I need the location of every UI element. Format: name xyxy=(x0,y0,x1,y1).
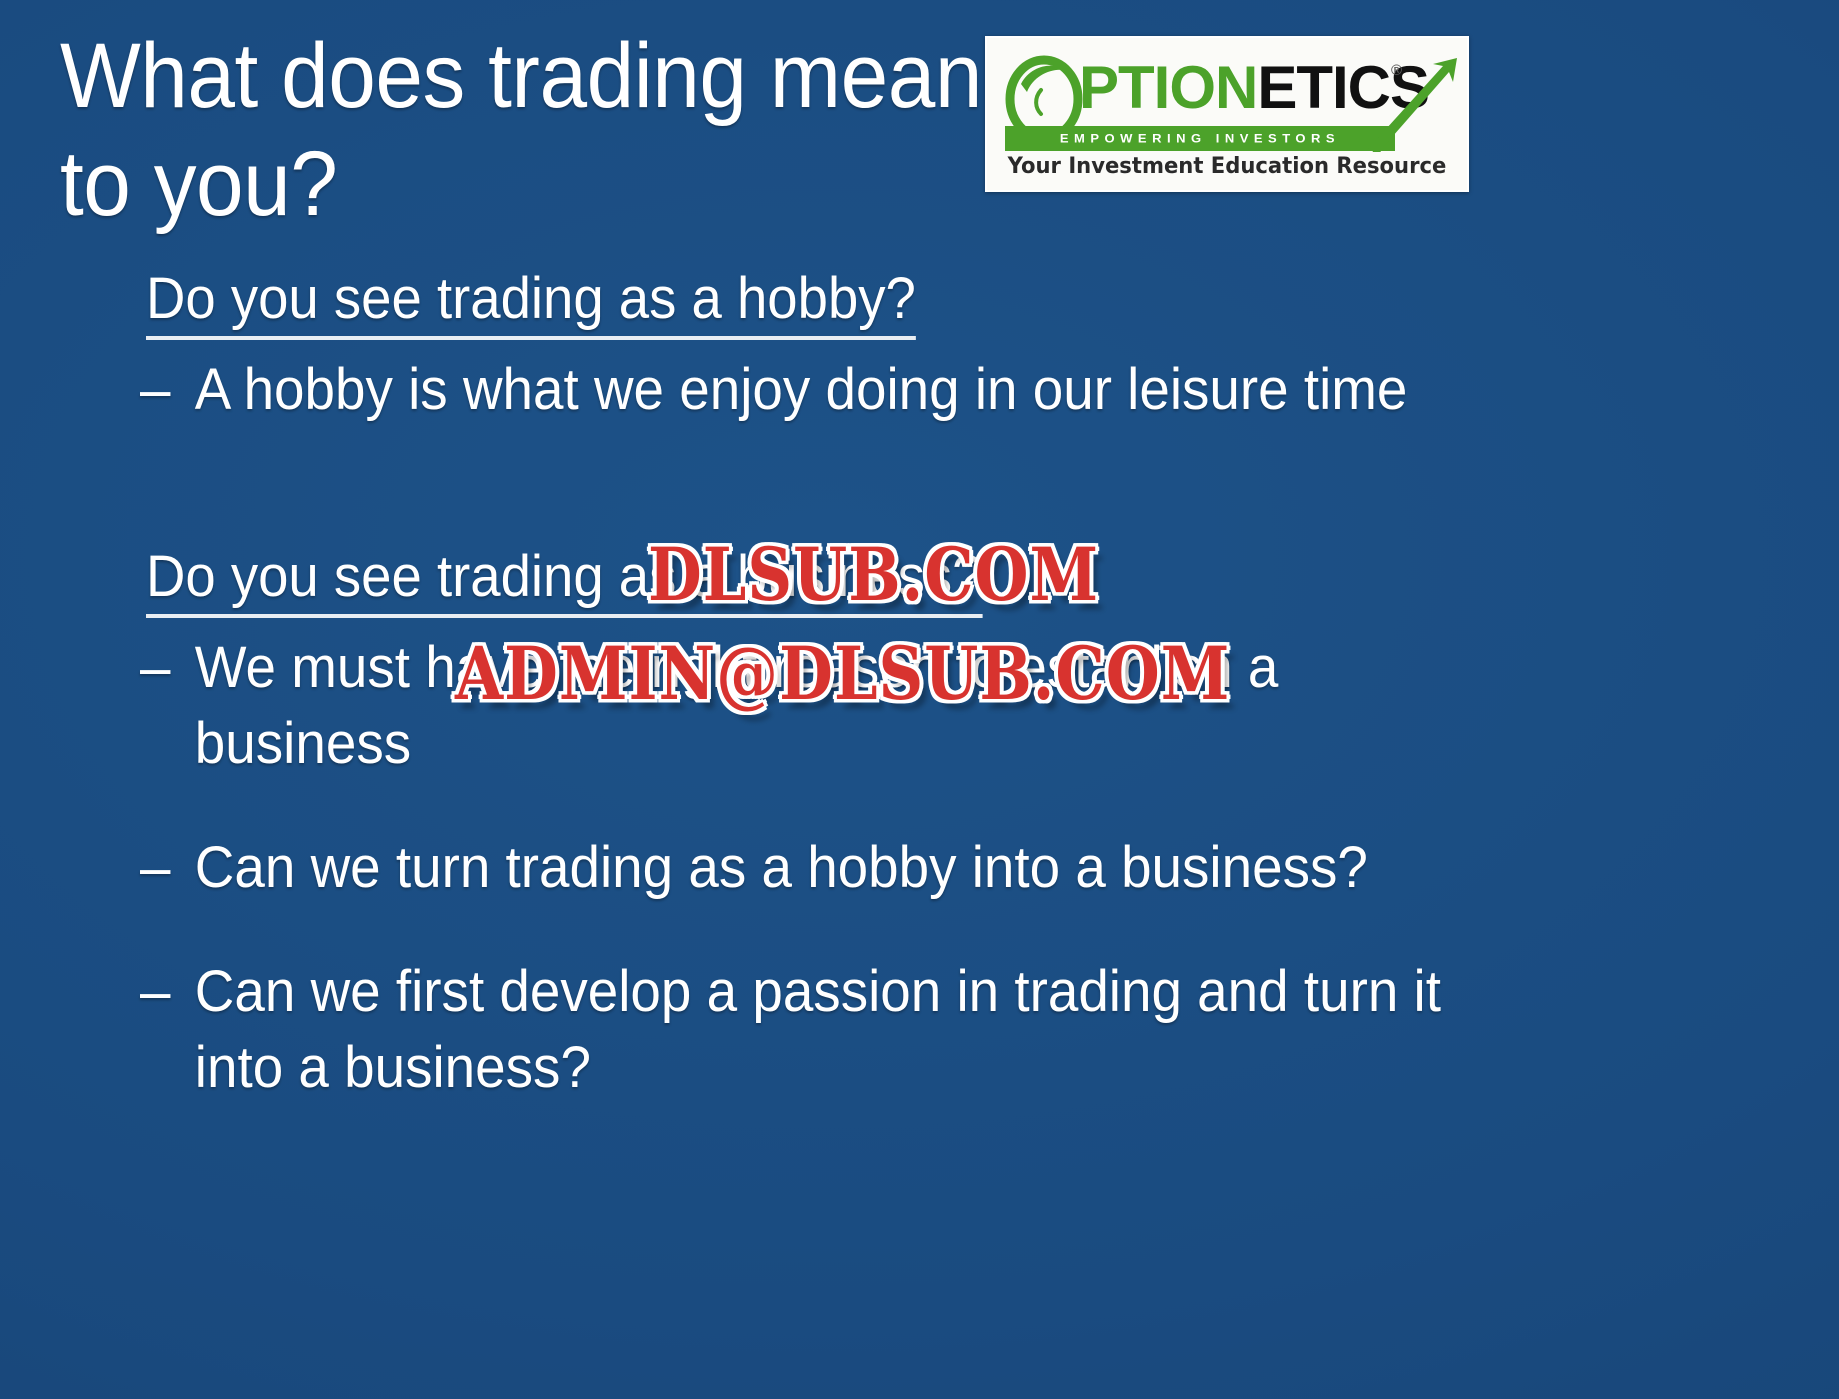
watermark-email: ADMIN@DLSUB.COM xyxy=(455,630,1230,716)
bullet-dash-icon: – xyxy=(140,630,170,706)
bullet-dash-icon: – xyxy=(140,830,170,906)
section-heading-row: Do you see trading as a hobby? xyxy=(0,268,1560,330)
optionetics-logo: PTIONETICS ® EMPOWERING INVESTORS Your I… xyxy=(985,36,1469,192)
section-heading-hobby: Do you see trading as a hobby? xyxy=(146,268,916,330)
logo-empowering-bar: EMPOWERING INVESTORS xyxy=(1005,126,1395,151)
bullet-text: A hobby is what we enjoy doing in our le… xyxy=(195,357,1408,422)
bullet-text: Can we turn trading as a hobby into a bu… xyxy=(195,835,1368,900)
bullet-dash-icon: – xyxy=(140,954,170,1030)
bullet-item: – Can we turn trading as a hobby into a … xyxy=(140,830,1442,906)
bullet-dash-icon: – xyxy=(140,352,170,428)
bullet-item: – Can we first develop a passion in trad… xyxy=(140,954,1442,1106)
logo-tagline: Your Investment Education Resource xyxy=(997,154,1458,179)
upward-arrow-icon xyxy=(1365,54,1461,154)
watermark-site: DLSUB.COM xyxy=(648,531,1099,617)
bullet-item: – A hobby is what we enjoy doing in our … xyxy=(140,352,1442,428)
logo-bar-text: EMPOWERING INVESTORS xyxy=(1005,127,1395,150)
logo-word-green: PTION xyxy=(1079,54,1257,121)
bullet-text: Can we first develop a passion in tradin… xyxy=(195,959,1441,1100)
slide-canvas: What does trading mean to you? PTIONETIC… xyxy=(0,0,1839,1399)
